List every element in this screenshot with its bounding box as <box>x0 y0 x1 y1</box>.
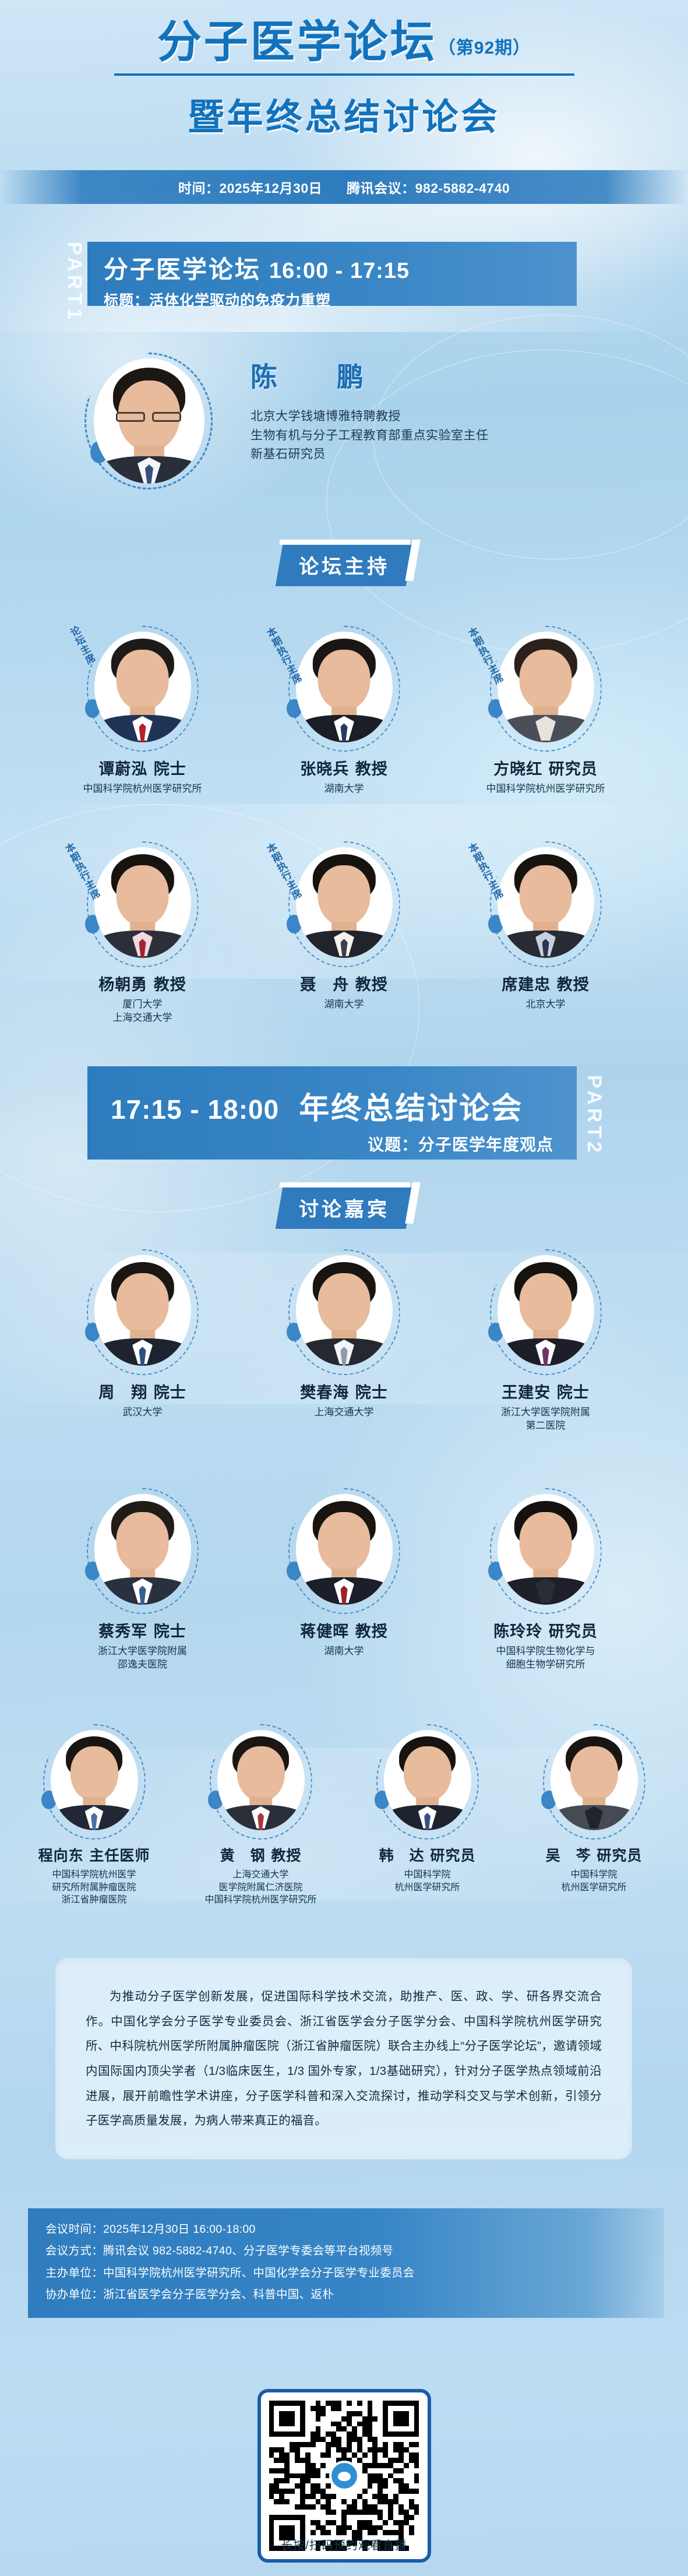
person-affiliation: 中国科学院杭州医学研究所 <box>55 783 230 796</box>
part1-tag: PART1 <box>63 242 86 306</box>
person-card: 周 翔 院士武汉大学 <box>55 1253 230 1433</box>
avatar <box>51 1730 138 1830</box>
affiliation-line: 湖南大学 <box>257 998 432 1012</box>
affiliation-line: 杭州医学研究所 <box>516 1881 673 1894</box>
person-affiliation: 中国科学院杭州医学研究所 <box>458 783 633 796</box>
keynote-affil-line: 新基石研究员 <box>250 445 658 464</box>
avatar <box>296 847 393 958</box>
footer-line-method: 会议方式：腾讯会议 982-5882-4740、分子医学专委会等平台视频号 <box>45 2240 647 2262</box>
avatar <box>94 847 191 958</box>
guests-row-3: 程向东 主任医师中国科学院杭州医学研究所附属肿瘤医院浙江省肿瘤医院黄 钢 教授上… <box>0 1728 688 1907</box>
person-card: 蔡秀军 院士浙江大学医学院附属邵逸夫医院 <box>55 1492 230 1672</box>
affiliation-line: 上海交通大学 <box>257 1406 432 1419</box>
avatar <box>498 847 594 958</box>
person-photo <box>458 1253 633 1374</box>
person-card: 本期执行主席聂 舟 教授湖南大学 <box>257 845 432 1025</box>
qr-matrix <box>269 2401 419 2551</box>
person-affiliation: 中国科学院生物化学与细胞生物学研究所 <box>458 1645 633 1672</box>
affiliation-line: 第二医院 <box>458 1419 633 1433</box>
meeting-meta-bar: 时间：2025年12月30日 腾讯会议：982-5882-4740 <box>0 170 688 204</box>
person-photo <box>257 1492 432 1613</box>
affiliation-line: 北京大学 <box>458 998 633 1012</box>
person-affiliation: 厦门大学上海交通大学 <box>55 998 230 1025</box>
avatar <box>498 1494 594 1605</box>
person-photo: 本期执行主席 <box>257 845 432 966</box>
part2-time: 17:15 - 18:00 <box>111 1094 279 1125</box>
person-card: 吴 芩 研究员中国科学院杭州医学研究所 <box>516 1728 673 1907</box>
livestream-icon <box>329 2461 359 2491</box>
part2-topic: 议题：分子医学年度观点 <box>111 1132 553 1155</box>
affiliation-line: 中国科学院杭州医学研究所 <box>55 783 230 796</box>
person-affiliation: 上海交通大学医学院附属仁济医院中国科学院杭州医学研究所 <box>182 1869 340 1907</box>
person-affiliation: 浙江大学医学院附属邵逸夫医院 <box>55 1645 230 1672</box>
hosts-chip-label: 论坛主持 <box>299 551 390 579</box>
affiliation-line: 中国科学院杭州医学研究所 <box>182 1894 340 1907</box>
person-name: 樊春海 院士 <box>257 1380 432 1402</box>
affiliation-line: 中国科学院生物化学与 <box>458 1645 633 1658</box>
person-card: 论坛主席谭蔚泓 院士中国科学院杭州医学研究所 <box>55 629 230 796</box>
avatar <box>94 632 191 742</box>
person-affiliation: 上海交通大学 <box>257 1406 432 1419</box>
affiliation-line: 中国科学院杭州医学 <box>16 1869 173 1881</box>
affiliation-line: 厦门大学 <box>55 998 230 1012</box>
person-card: 本期执行主席杨朝勇 教授厦门大学上海交通大学 <box>55 845 230 1025</box>
avatar <box>296 632 393 742</box>
person-name: 张晓兵 教授 <box>257 756 432 779</box>
person-affiliation: 北京大学 <box>458 998 633 1012</box>
affiliation-line: 研究所附属肿瘤医院 <box>16 1881 173 1894</box>
avatar <box>296 1255 393 1366</box>
avatar <box>94 1494 191 1605</box>
person-card: 本期执行主席张晓兵 教授湖南大学 <box>257 629 432 796</box>
page-subtitle: 暨年终总结讨论会 <box>0 87 688 140</box>
part2-banner: 17:15 - 18:00 年终总结讨论会 议题：分子医学年度观点 <box>87 1066 577 1160</box>
person-name: 蔡秀军 院士 <box>55 1619 230 1641</box>
footer-info-block: 会议时间：2025年12月30日 16:00-18:00 会议方式：腾讯会议 9… <box>28 2208 664 2318</box>
keynote-affil-line: 生物有机与分子工程教育部重点实验室主任 <box>250 427 658 446</box>
person-card: 本期执行主席席建忠 教授北京大学 <box>458 845 633 1025</box>
avatar <box>94 358 204 484</box>
keynote-photo <box>90 358 207 484</box>
person-affiliation: 浙江大学医学院附属第二医院 <box>458 1406 633 1433</box>
avatar <box>296 1494 393 1605</box>
affiliation-line: 中国科学院 <box>349 1869 506 1881</box>
keynote-speaker: 陈 鹏 北京大学钱塘博雅特聘教授 生物有机与分子工程教育部重点实验室主任 新基石… <box>0 353 688 498</box>
person-name: 陈玲玲 研究员 <box>458 1619 633 1641</box>
qr-caption: 长按/扫码预约观看直播 <box>0 2536 688 2553</box>
person-card: 程向东 主任医师中国科学院杭州医学研究所附属肿瘤医院浙江省肿瘤医院 <box>16 1728 173 1907</box>
meeting-id: 腾讯会议：982-5882-4740 <box>347 177 510 197</box>
keynote-affil-line: 北京大学钱塘博雅特聘教授 <box>250 407 658 427</box>
affiliation-line: 中国科学院 <box>516 1869 673 1881</box>
hosts-row-1: 论坛主席谭蔚泓 院士中国科学院杭州医学研究所本期执行主席张晓兵 教授湖南大学本期… <box>0 629 688 796</box>
person-affiliation: 中国科学院杭州医学研究所 <box>349 1869 506 1894</box>
person-card: 樊春海 院士上海交通大学 <box>257 1253 432 1433</box>
description-text: 为推动分子医学创新发展，促进国际科学技术交流，助推产、医、政、学、研各界交流合作… <box>86 1985 602 2134</box>
person-name: 韩 达 研究员 <box>349 1844 506 1865</box>
affiliation-line: 中国科学院杭州医学研究所 <box>458 783 633 796</box>
affiliation-line: 医学院附属仁济医院 <box>182 1881 340 1894</box>
part1-name: 分子医学论坛 <box>104 250 261 286</box>
person-name: 方晓红 研究员 <box>458 756 633 779</box>
affiliation-line: 武汉大学 <box>55 1406 230 1419</box>
avatar <box>94 1255 191 1366</box>
keynote-affiliations: 北京大学钱塘博雅特聘教授 生物有机与分子工程教育部重点实验室主任 新基石研究员 <box>250 407 658 464</box>
person-photo: 本期执行主席 <box>458 629 633 750</box>
footer-line-time: 会议时间：2025年12月30日 16:00-18:00 <box>45 2219 647 2240</box>
person-photo <box>349 1728 506 1838</box>
person-card: 陈玲玲 研究员中国科学院生物化学与细胞生物学研究所 <box>458 1492 633 1672</box>
keynote-name: 陈 鹏 <box>250 356 658 394</box>
person-card: 黄 钢 教授上海交通大学医学院附属仁济医院中国科学院杭州医学研究所 <box>182 1728 340 1907</box>
guests-row-1: 周 翔 院士武汉大学樊春海 院士上海交通大学王建安 院士浙江大学医学院附属第二医… <box>0 1253 688 1433</box>
role-ribbon: 论坛主席 <box>65 623 98 667</box>
affiliation-line: 湖南大学 <box>257 1645 432 1658</box>
person-photo: 本期执行主席 <box>257 629 432 750</box>
page-title: 分子医学论坛 <box>157 20 437 64</box>
part1-topic: 标题：活体化学驱动的免疫力重塑 <box>104 289 577 310</box>
avatar <box>498 632 594 742</box>
hosts-row-2: 本期执行主席杨朝勇 教授厦门大学上海交通大学本期执行主席聂 舟 教授湖南大学本期… <box>0 845 688 1025</box>
person-name: 杨朝勇 教授 <box>55 972 230 995</box>
person-photo <box>55 1492 230 1613</box>
affiliation-line: 浙江省肿瘤医院 <box>16 1894 173 1907</box>
person-photo: 论坛主席 <box>55 629 230 750</box>
person-name: 王建安 院士 <box>458 1380 633 1402</box>
person-photo <box>182 1728 340 1838</box>
avatar <box>384 1730 471 1830</box>
footer-line-hosts: 主办单位：中国科学院杭州医学研究所、中国化学会分子医学专业委员会 <box>45 2263 647 2284</box>
avatar <box>551 1730 638 1830</box>
person-photo: 本期执行主席 <box>55 845 230 966</box>
person-name: 蒋健晖 教授 <box>257 1619 432 1641</box>
guests-chip-label: 讨论嘉宾 <box>299 1193 390 1222</box>
person-photo <box>516 1728 673 1838</box>
issue-number: （第92期） <box>438 33 531 64</box>
part1-banner: 分子医学论坛 16:00 - 17:15 标题：活体化学驱动的免疫力重塑 <box>87 242 577 306</box>
person-card: 王建安 院士浙江大学医学院附属第二医院 <box>458 1253 633 1433</box>
title-row: 分子医学论坛 （第92期） <box>0 20 688 64</box>
affiliation-line: 细胞生物学研究所 <box>458 1658 633 1672</box>
person-affiliation: 武汉大学 <box>55 1406 230 1419</box>
person-card: 韩 达 研究员中国科学院杭州医学研究所 <box>349 1728 506 1907</box>
part2-name: 年终总结讨论会 <box>299 1084 523 1127</box>
person-name: 吴 芩 研究员 <box>516 1844 673 1865</box>
person-name: 周 翔 院士 <box>55 1380 230 1402</box>
person-card: 蒋健晖 教授湖南大学 <box>257 1492 432 1672</box>
person-photo <box>458 1492 633 1613</box>
meeting-date: 时间：2025年12月30日 <box>178 177 322 197</box>
affiliation-line: 浙江大学医学院附属 <box>458 1406 633 1419</box>
poster-header: 分子医学论坛 （第92期） 暨年终总结讨论会 <box>0 0 688 175</box>
avatar <box>217 1730 305 1830</box>
guests-section-heading: 讨论嘉宾 <box>0 1187 688 1229</box>
person-name: 席建忠 教授 <box>458 972 633 995</box>
person-photo <box>257 1253 432 1374</box>
avatar <box>498 1255 594 1366</box>
person-affiliation: 湖南大学 <box>257 1645 432 1658</box>
hosts-section-heading: 论坛主持 <box>0 545 688 586</box>
person-affiliation: 湖南大学 <box>257 998 432 1012</box>
person-photo <box>16 1728 173 1838</box>
affiliation-line: 上海交通大学 <box>55 1012 230 1025</box>
person-name: 黄 钢 教授 <box>182 1844 340 1865</box>
affiliation-line: 浙江大学医学院附属 <box>55 1645 230 1658</box>
title-divider <box>114 73 574 76</box>
guests-row-2: 蔡秀军 院士浙江大学医学院附属邵逸夫医院蒋健晖 教授湖南大学陈玲玲 研究员中国科… <box>0 1492 688 1672</box>
person-affiliation: 中国科学院杭州医学研究所 <box>516 1869 673 1894</box>
person-photo: 本期执行主席 <box>458 845 633 966</box>
description-card: 为推动分子医学创新发展，促进国际科学技术交流，助推产、医、政、学、研各界交流合作… <box>55 1958 632 2159</box>
person-card: 本期执行主席方晓红 研究员中国科学院杭州医学研究所 <box>458 629 633 796</box>
part2-tag: PART2 <box>583 1075 605 1168</box>
person-name: 程向东 主任医师 <box>16 1844 173 1865</box>
footer-line-coorg: 协办单位：浙江省医学会分子医学分会、科普中国、返朴 <box>45 2284 647 2306</box>
person-name: 谭蔚泓 院士 <box>55 756 230 779</box>
affiliation-line: 上海交通大学 <box>182 1869 340 1881</box>
person-affiliation: 中国科学院杭州医学研究所附属肿瘤医院浙江省肿瘤医院 <box>16 1869 173 1907</box>
affiliation-line: 杭州医学研究所 <box>349 1881 506 1894</box>
affiliation-line: 湖南大学 <box>257 783 432 796</box>
part1-time: 16:00 - 17:15 <box>269 259 410 284</box>
affiliation-line: 邵逸夫医院 <box>55 1658 230 1672</box>
person-affiliation: 湖南大学 <box>257 783 432 796</box>
person-photo <box>55 1253 230 1374</box>
person-name: 聂 舟 教授 <box>257 972 432 995</box>
